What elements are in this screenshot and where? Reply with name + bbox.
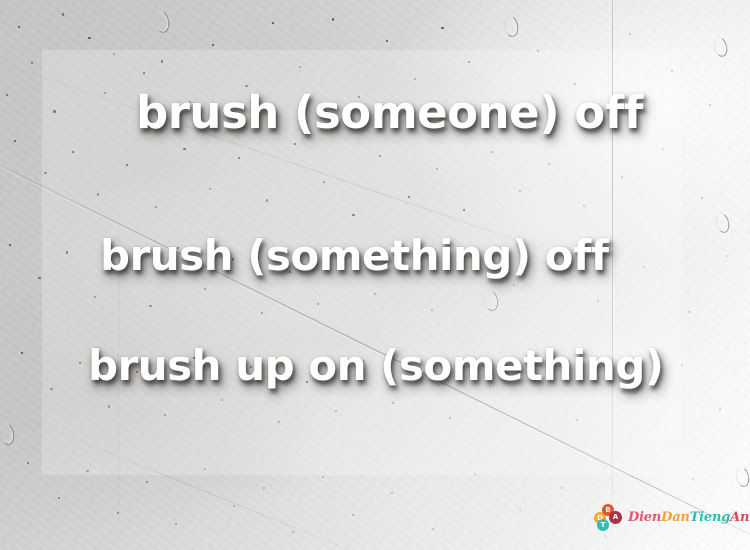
- phrase-line-2: brush (something) off: [100, 231, 609, 280]
- wordmark-segment-dan: Dan: [661, 510, 690, 525]
- phrase-line-1: brush (someone) off: [136, 86, 643, 139]
- watermark-wordmark: DienDanTiengAnh.Com: [628, 510, 750, 525]
- wordmark-segment-anh: Anh: [730, 510, 750, 525]
- site-watermark[interactable]: D B T A DienDanTiengAnh.Com: [594, 502, 750, 532]
- watermark-logo-icon: D B T A: [594, 503, 624, 531]
- wordmark-segment-tieng: Tieng: [690, 510, 730, 525]
- image-canvas: brush (someone) off brush (something) of…: [0, 0, 750, 550]
- phrase-line-3: brush up on (something): [88, 341, 664, 390]
- logo-circle-a: A: [609, 511, 622, 524]
- wordmark-segment-dien: Dien: [628, 510, 661, 525]
- logo-circle-t: T: [597, 519, 609, 531]
